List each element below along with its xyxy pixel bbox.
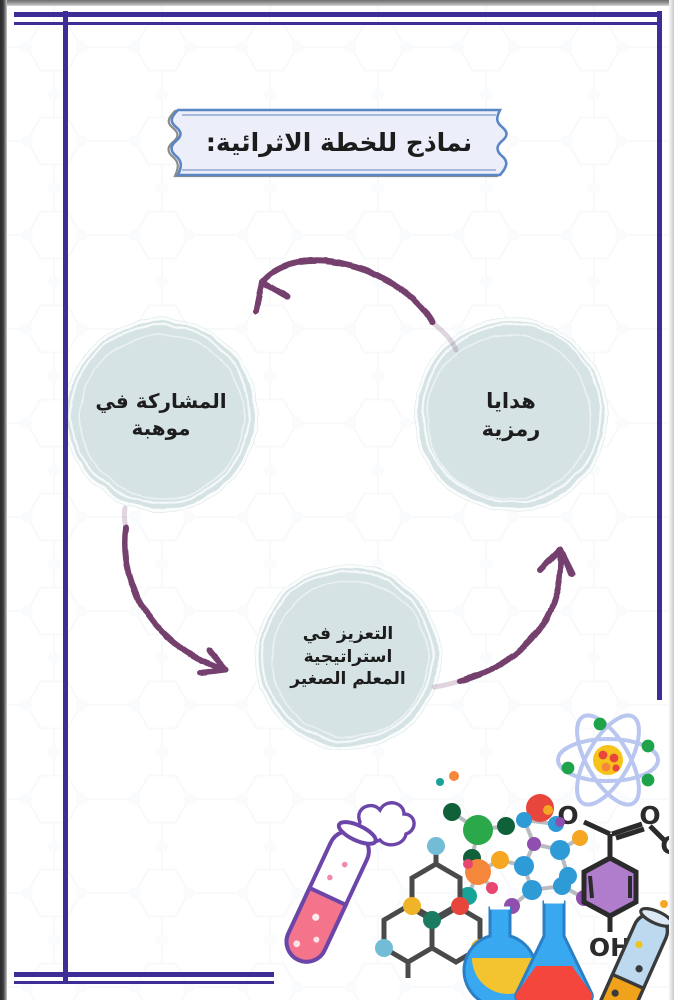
scan-edge-top	[0, 0, 674, 6]
page-title: نماذج للخطة الاثرائية:	[146, 106, 532, 179]
arrow-right	[460, 550, 572, 681]
arrow-top	[256, 261, 432, 322]
frame-rule-right	[657, 11, 662, 700]
cycle-node-bottom[interactable]: التعزيز في استراتيجية المعلم الصغير	[243, 562, 453, 752]
cycle-node-right-label: هدايا رمزية	[482, 387, 541, 443]
cycle-node-right[interactable]: هدايا رمزية	[406, 315, 616, 515]
cycle-node-left[interactable]: المشاركة في موهبة	[56, 315, 266, 515]
process-cycle-diagram: المشاركة في موهبة هدايا رمزية التعزيز في…	[0, 210, 674, 755]
title-banner: نماذج للخطة الاثرائية:	[146, 106, 532, 179]
atom-icon	[558, 706, 658, 814]
test-tube-icon	[280, 803, 414, 969]
cycle-node-left-label: المشاركة في موهبة	[95, 388, 226, 442]
frame-rule-bottom	[14, 972, 274, 977]
flask-group	[464, 902, 592, 1000]
cycle-node-bottom-label: التعزيز في استراتيجية المعلم الصغير	[290, 623, 405, 691]
svg-text:O: O	[639, 801, 660, 830]
scan-edge-right	[669, 0, 674, 1000]
frame-rule-bottom-inner	[14, 981, 274, 984]
arrow-left	[125, 528, 226, 673]
scan-edge-left	[0, 0, 7, 1000]
frame-rule-top-inner	[14, 22, 660, 25]
poster-page: نماذج للخطة الاثرائية:	[0, 0, 674, 1000]
frame-rule-top	[14, 12, 660, 17]
